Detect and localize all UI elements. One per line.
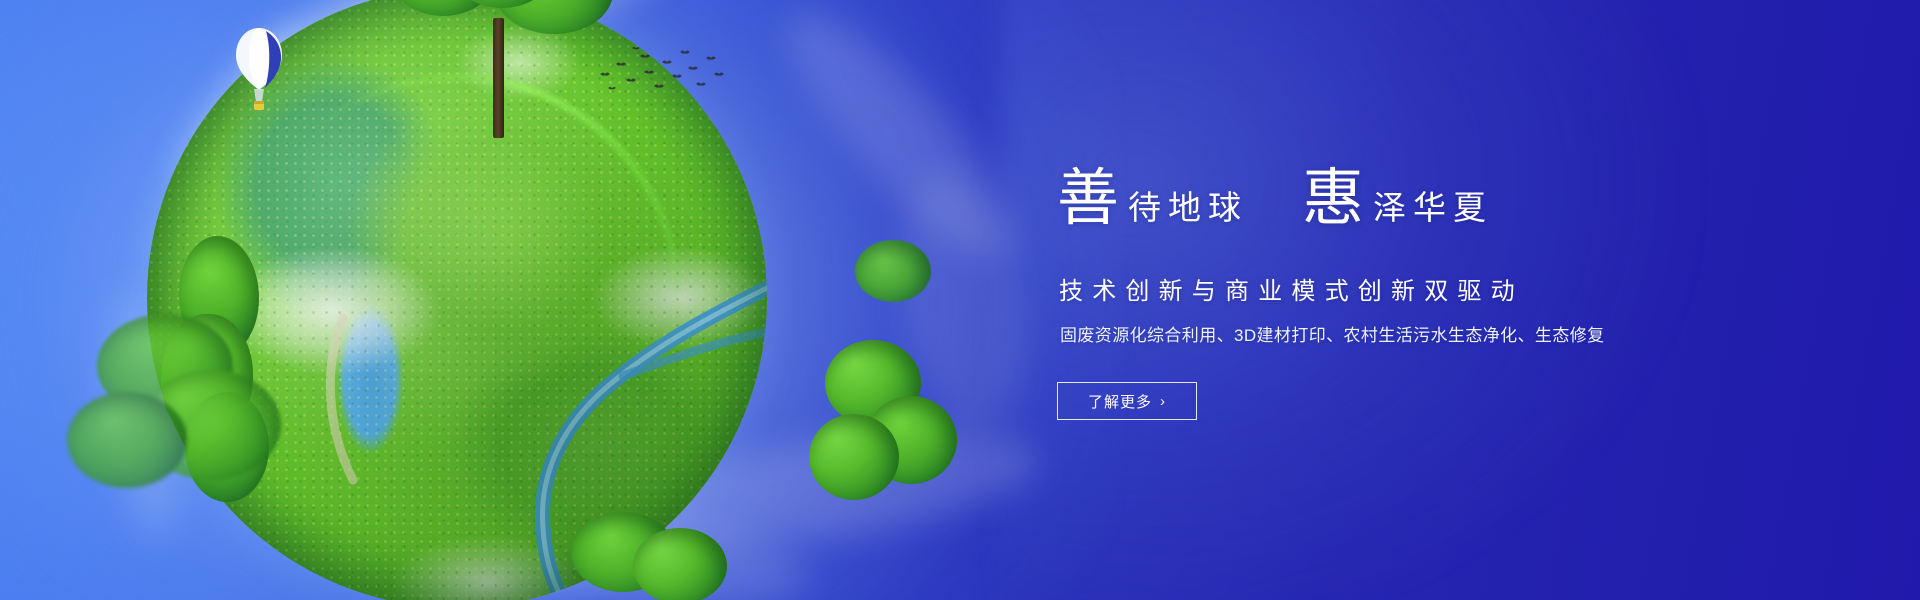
bird-flock-icon: [596, 44, 726, 98]
hero-content: 善 待地球 惠 泽华夏 技术创新与商业模式创新双驱动 固废资源化综合利用、3D建…: [1057, 0, 1757, 600]
headline-small-chars-1: 待地球: [1119, 193, 1248, 230]
tree-canopy: [855, 240, 931, 302]
page-title: 善 待地球 惠 泽华夏: [1057, 168, 1493, 230]
service-tag-list: 固废资源化综合利用、3D建材打印、农村生活污水生态净化、生态修复: [1060, 325, 1605, 347]
tree-trunk: [493, 18, 504, 138]
tree-icon: [391, 0, 621, 138]
tree-canopy: [67, 392, 187, 488]
headline-group-2: 惠 泽华夏: [1302, 168, 1493, 230]
learn-more-label: 了解更多: [1088, 391, 1152, 412]
hot-air-balloon-icon: [232, 26, 286, 118]
headline-big-char-2: 惠: [1302, 168, 1364, 230]
chevron-right-icon: ›: [1160, 394, 1166, 409]
tree-icon: [57, 304, 297, 534]
tree-canopy: [809, 414, 899, 500]
tree-icon: [551, 498, 731, 600]
tree-canopy: [633, 528, 727, 600]
headline-big-char-1: 善: [1057, 168, 1119, 230]
hero-banner: 善 待地球 惠 泽华夏 技术创新与商业模式创新双驱动 固废资源化综合利用、3D建…: [0, 0, 1920, 600]
learn-more-button[interactable]: 了解更多 ›: [1057, 382, 1197, 420]
page-subtitle: 技术创新与商业模式创新双驱动: [1059, 280, 1524, 304]
headline-group-1: 善 待地球: [1057, 168, 1248, 230]
tree-icon: [809, 340, 959, 520]
headline-small-chars-2: 泽华夏: [1364, 193, 1493, 230]
tree-icon: [847, 234, 947, 354]
